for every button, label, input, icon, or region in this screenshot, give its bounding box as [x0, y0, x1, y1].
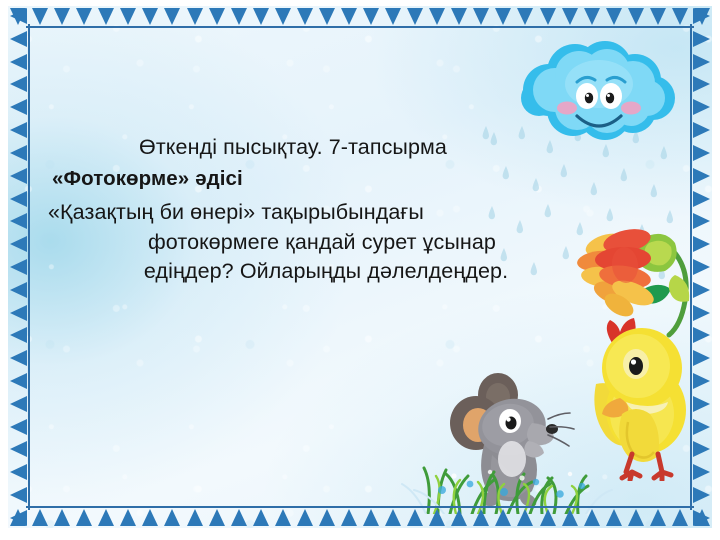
slide-canvas: Өткенді пысықтау. 7-тапсырма «Фотокөрме»…	[0, 0, 720, 540]
border-triangles-left	[10, 8, 27, 526]
border-triangles-bottom	[10, 509, 710, 526]
mouse-icon	[440, 371, 575, 511]
border-rail-bottom	[26, 506, 694, 508]
border-rail-right	[690, 24, 692, 510]
slide-frame: Өткенді пысықтау. 7-тапсырма «Фотокөрме»…	[8, 6, 712, 528]
text-line-question-3: едіңдер? Ойларыңды дәлелдеңдер.	[42, 258, 590, 286]
slide-text-block: Өткенді пысықтау. 7-тапсырма «Фотокөрме»…	[42, 134, 590, 288]
border-rail-top	[26, 26, 694, 28]
text-line-question-1: «Қазақтың би өнері» тақырыбындағы	[42, 199, 590, 227]
text-line-method: «Фотокөрме» әдісі	[42, 166, 590, 193]
border-triangles-top	[10, 8, 710, 25]
border-triangles-right	[693, 8, 710, 526]
grass-icon	[308, 436, 708, 514]
text-line-question-2: фотокөрмеге қандай сурет ұсынар	[42, 229, 590, 257]
text-line-title: Өткенді пысықтау. 7-тапсырма	[42, 134, 590, 162]
border-rail-left	[28, 24, 30, 510]
